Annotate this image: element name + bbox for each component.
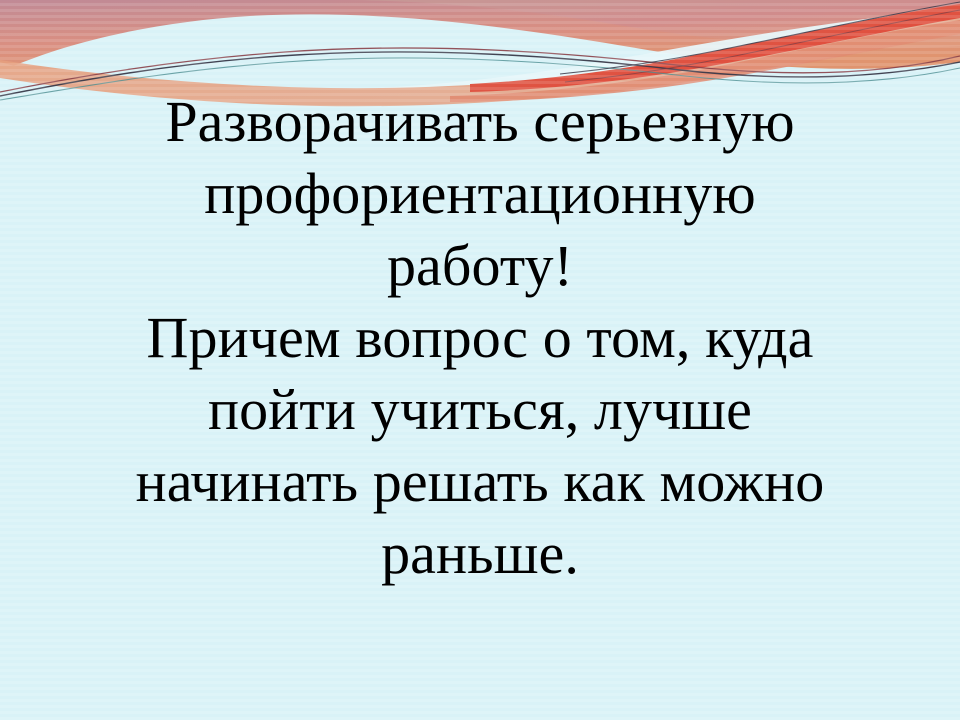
body-line: работу! [0, 230, 960, 302]
presentation-slide: Разворачивать серьезную профориентационн… [0, 0, 960, 720]
body-line: раньше. [0, 518, 960, 590]
slide-body-text: Разворачивать серьезную профориентационн… [0, 86, 960, 590]
body-line: пойти учиться, лучше [0, 374, 960, 446]
body-line: профориентационную [0, 158, 960, 230]
body-line: начинать решать как можно [0, 446, 960, 518]
body-line: Разворачивать серьезную [0, 86, 960, 158]
body-line: Причем вопрос о том, куда [0, 302, 960, 374]
